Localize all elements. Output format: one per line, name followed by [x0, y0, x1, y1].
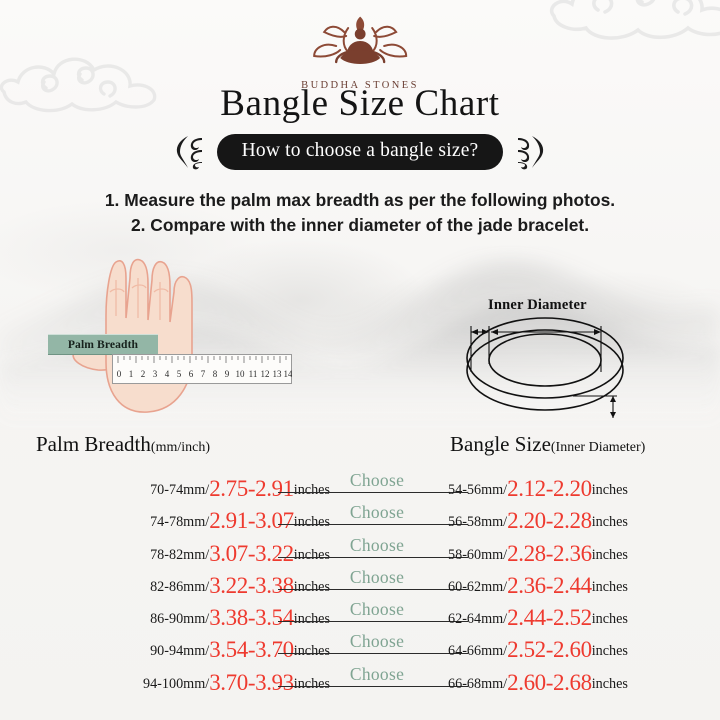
table-row: 70-74mm/2.75-2.91inchesChoose54-56mm/2.1… [0, 470, 720, 502]
palm-breadth-inches: 2.75-2.91 [209, 476, 294, 501]
choose-link[interactable]: Choose [308, 535, 446, 556]
table-row: 86-90mm/3.38-3.54inchesChoose62-64mm/2.4… [0, 599, 720, 631]
palm-breadth-value: 86-90mm/3.38-3.54inches [150, 605, 330, 631]
svg-text:6: 6 [189, 369, 194, 379]
bangle-size-unit: inches [592, 611, 628, 627]
svg-text:12: 12 [261, 369, 270, 379]
svg-text:10: 10 [236, 369, 246, 379]
bangle-size-inches: 2.52-2.60 [507, 637, 592, 662]
choose-label: Choose [350, 535, 404, 555]
choose-link[interactable]: Choose [308, 470, 446, 491]
brand-logo: BUDDHA STONES [301, 8, 419, 91]
bangle-ring-icon [455, 292, 655, 422]
bangle-size-header: Bangle Size(Inner Diameter) [450, 432, 645, 457]
bangle-size-header-main: Bangle Size [450, 432, 551, 456]
palm-breadth-mm: 94-100mm/ [143, 676, 209, 692]
choose-label: Choose [350, 599, 404, 619]
bangle-size-inches: 2.44-2.52 [507, 605, 592, 630]
bangle-size-header-sub: (Inner Diameter) [551, 440, 645, 455]
bangle-size-inches: 2.60-2.68 [507, 670, 592, 695]
bangle-size-value: 54-56mm/2.12-2.20inches [448, 476, 628, 502]
palm-breadth-header-main: Palm Breadth [36, 432, 151, 456]
bangle-size-inches: 2.36-2.44 [507, 573, 592, 598]
bangle-size-unit: inches [592, 482, 628, 498]
page-title: Bangle Size Chart [0, 82, 720, 125]
palm-breadth-value: 70-74mm/2.75-2.91inches [150, 476, 330, 502]
svg-text:0: 0 [117, 369, 122, 379]
bangle-size-value: 58-60mm/2.28-2.36inches [448, 541, 628, 567]
choose-link[interactable]: Choose [308, 631, 446, 652]
svg-text:2: 2 [141, 369, 146, 379]
choose-label: Choose [350, 502, 404, 522]
svg-text:14: 14 [284, 369, 293, 379]
palm-breadth-header: Palm Breadth(mm/inch) [36, 432, 210, 457]
bangle-size-inches: 2.28-2.36 [507, 541, 592, 566]
bangle-size-unit: inches [592, 643, 628, 659]
bangle-size-unit: inches [592, 514, 628, 530]
palm-breadth-value: 82-86mm/3.22-3.38inches [150, 573, 330, 599]
bangle-size-value: 64-66mm/2.52-2.60inches [448, 637, 628, 663]
table-row: 74-78mm/2.91-3.07inchesChoose56-58mm/2.2… [0, 502, 720, 534]
bangle-size-unit: inches [592, 547, 628, 563]
choose-label: Choose [350, 567, 404, 587]
row-connector-line [278, 621, 468, 622]
choose-label: Choose [350, 631, 404, 651]
choose-link[interactable]: Choose [308, 502, 446, 523]
palm-breadth-mm: 78-82mm/ [150, 547, 209, 563]
question-banner: How to choose a bangle size? [0, 134, 720, 170]
choose-label: Choose [350, 470, 404, 490]
palm-breadth-mm: 82-86mm/ [150, 579, 209, 595]
lotus-meditation-logo-icon [306, 8, 414, 74]
instructions: 1. Measure the palm max breadth as per t… [0, 188, 720, 238]
svg-text:1: 1 [129, 369, 134, 379]
ruler-icon: 012 345 678 91011 121314 [112, 354, 292, 384]
palm-breadth-value: 90-94mm/3.54-3.70inches [150, 637, 330, 663]
bangle-size-mm: 62-64mm/ [448, 611, 507, 627]
row-connector-line [278, 589, 468, 590]
bangle-size-value: 62-64mm/2.44-2.52inches [448, 605, 628, 631]
instruction-step-2: 2. Compare with the inner diameter of th… [0, 213, 720, 238]
svg-text:4: 4 [165, 369, 170, 379]
palm-breadth-label: Palm Breadth [48, 334, 158, 355]
svg-text:8: 8 [213, 369, 218, 379]
bangle-size-mm: 64-66mm/ [448, 643, 507, 659]
row-connector-line [278, 557, 468, 558]
bangle-size-mm: 60-62mm/ [448, 579, 507, 595]
how-to-choose-pill: How to choose a bangle size? [217, 134, 504, 170]
svg-text:11: 11 [249, 369, 258, 379]
row-connector-line [278, 686, 468, 687]
table-row: 90-94mm/3.54-3.70inchesChoose64-66mm/2.5… [0, 631, 720, 663]
palm-breadth-value: 78-82mm/3.07-3.22inches [150, 541, 330, 567]
svg-text:7: 7 [201, 369, 206, 379]
cloud-motif-top-right [546, 0, 720, 62]
table-row: 82-86mm/3.22-3.38inchesChoose60-62mm/2.3… [0, 567, 720, 599]
bangle-size-unit: inches [592, 676, 628, 692]
size-table: 70-74mm/2.75-2.91inchesChoose54-56mm/2.1… [0, 470, 720, 696]
palm-breadth-mm: 86-90mm/ [150, 611, 209, 627]
bangle-size-inches: 2.20-2.28 [507, 508, 592, 533]
palm-breadth-inches: 3.22-3.38 [209, 573, 294, 598]
palm-breadth-inches: 3.38-3.54 [209, 605, 294, 630]
row-connector-line [278, 653, 468, 654]
svg-text:9: 9 [225, 369, 230, 379]
row-connector-line [278, 492, 468, 493]
bangle-size-mm: 66-68mm/ [448, 676, 507, 692]
palm-breadth-mm: 74-78mm/ [150, 514, 209, 530]
table-row: 94-100mm/3.70-3.93inchesChoose66-68mm/2.… [0, 664, 720, 696]
bangle-size-inches: 2.12-2.20 [507, 476, 592, 501]
palm-breadth-inches: 3.07-3.22 [209, 541, 294, 566]
leaf-flourish-icon-right [514, 134, 548, 170]
row-connector-line [278, 524, 468, 525]
palm-breadth-inches: 3.54-3.70 [209, 637, 294, 662]
palm-breadth-mm: 90-94mm/ [150, 643, 209, 659]
choose-label: Choose [350, 664, 404, 684]
palm-breadth-mm: 70-74mm/ [150, 482, 209, 498]
bangle-size-value: 56-58mm/2.20-2.28inches [448, 508, 628, 534]
bangle-size-value: 66-68mm/2.60-2.68inches [448, 670, 628, 696]
svg-text:3: 3 [153, 369, 158, 379]
bangle-size-mm: 58-60mm/ [448, 547, 507, 563]
bangle-size-unit: inches [592, 579, 628, 595]
choose-link[interactable]: Choose [308, 567, 446, 588]
palm-breadth-inches: 2.91-3.07 [209, 508, 294, 533]
leaf-flourish-icon-left [172, 134, 206, 170]
palm-breadth-inches: 3.70-3.93 [209, 670, 294, 695]
bangle-size-mm: 54-56mm/ [448, 482, 507, 498]
palm-breadth-value: 74-78mm/2.91-3.07inches [150, 508, 330, 534]
instruction-step-1: 1. Measure the palm max breadth as per t… [0, 188, 720, 213]
bangle-size-mm: 56-58mm/ [448, 514, 507, 530]
svg-text:13: 13 [273, 369, 283, 379]
bangle-size-chart-page: BUDDHA STONES Bangle Size Chart How to c… [0, 0, 720, 720]
palm-breadth-value: 94-100mm/3.70-3.93inches [143, 670, 330, 696]
svg-text:5: 5 [177, 369, 182, 379]
bangle-diagram [455, 292, 655, 422]
choose-link[interactable]: Choose [308, 599, 446, 620]
palm-breadth-header-sub: (mm/inch) [151, 440, 210, 455]
choose-link[interactable]: Choose [308, 664, 446, 685]
table-row: 78-82mm/3.07-3.22inchesChoose58-60mm/2.2… [0, 535, 720, 567]
bangle-size-value: 60-62mm/2.36-2.44inches [448, 573, 628, 599]
